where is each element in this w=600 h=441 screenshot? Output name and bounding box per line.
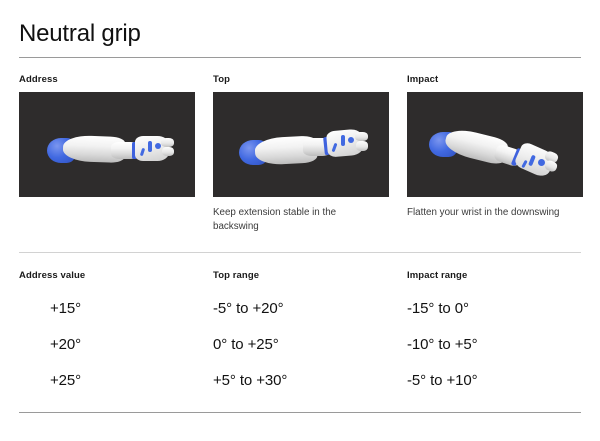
bottom-divider: [19, 412, 581, 413]
table-cell-address-value: +25°: [19, 372, 213, 389]
knuckle-marker-icon: [341, 135, 345, 146]
title-divider: [19, 57, 581, 58]
table-header-cell: Top range: [213, 270, 407, 281]
section-divider: [19, 252, 581, 253]
table-row: +15° -5° to +20° -15° to 0°: [19, 300, 581, 317]
pose-caption: Flatten your wrist in the downswing: [407, 206, 567, 220]
forearm-model-address: [19, 92, 195, 197]
table-header-row: Address value Top range Impact range: [19, 270, 581, 281]
pose-panel-impact: Impact Flatten your wrist in the downswi…: [407, 75, 583, 234]
knuckle-marker-icon: [148, 141, 152, 152]
forearm-model-impact: [407, 92, 583, 197]
table-cell-impact-range: -5° to +10°: [407, 372, 581, 389]
table-row: +25° +5° to +30° -5° to +10°: [19, 372, 581, 389]
pose-panel-top: Top Keep extension stable in the backswi…: [213, 75, 389, 234]
pose-caption: Keep extension stable in the backswing: [213, 206, 373, 234]
table-cell-impact-range: -15° to 0°: [407, 300, 581, 317]
finger-segment: [162, 147, 174, 156]
forearm-render-viewport-impact: [407, 92, 583, 197]
pose-panel-address: Address: [19, 75, 195, 234]
range-table: Address value Top range Impact range +15…: [19, 270, 581, 389]
page-title: Neutral grip: [19, 0, 581, 46]
table-cell-impact-range: -10° to +5°: [407, 336, 581, 353]
table-cell-top-range: -5° to +20°: [213, 300, 407, 317]
table-row: +20° 0° to +25° -10° to +5°: [19, 336, 581, 353]
table-cell-address-value: +20°: [19, 336, 213, 353]
finger-segment: [161, 138, 174, 147]
knuckle-marker-icon: [348, 137, 354, 143]
document-root: Neutral grip Address: [19, 0, 581, 441]
finger-segment: [356, 141, 368, 151]
table-cell-address-value: +15°: [19, 300, 213, 317]
table-cell-top-range: 0° to +25°: [213, 336, 407, 353]
pose-panel-label: Address: [19, 75, 195, 85]
forearm-model-top: [213, 92, 389, 197]
forearm-render-viewport-address: [19, 92, 195, 197]
table-cell-top-range: +5° to +30°: [213, 372, 407, 389]
pose-panel-row: Address Top: [19, 75, 581, 234]
table-header-cell: Impact range: [407, 270, 581, 281]
forearm-render-viewport-top: [213, 92, 389, 197]
table-header-cell: Address value: [19, 270, 213, 281]
pose-panel-label: Impact: [407, 75, 583, 85]
finger-segment: [355, 132, 368, 141]
pose-panel-label: Top: [213, 75, 389, 85]
